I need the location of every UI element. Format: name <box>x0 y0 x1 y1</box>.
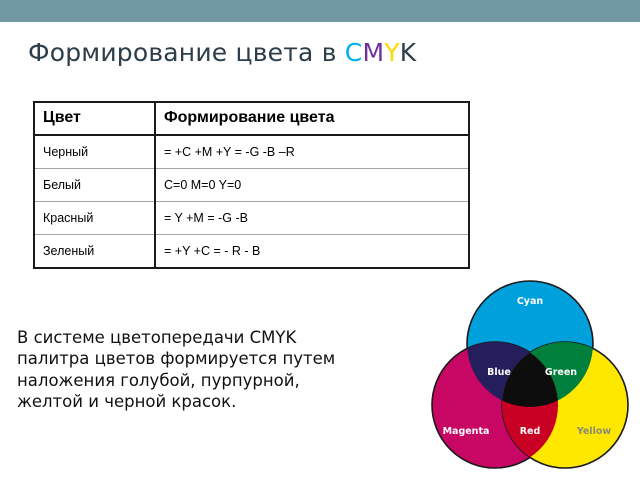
table-header-color: Цвет <box>34 102 155 135</box>
table-cell-formula: C=0 M=0 Y=0 <box>155 169 469 202</box>
table-cell-formula: = +Y +C = - R - B <box>155 235 469 269</box>
page-title: Формирование цвета в CMYK <box>28 38 416 67</box>
venn-label-green: Green <box>545 367 577 378</box>
page-title-letter-c: C <box>345 38 363 67</box>
table-cell-formula: = +C +M +Y = -G -B –R <box>155 135 469 169</box>
table-row: Красный = Y +M = -G -B <box>34 202 469 235</box>
table-header: Цвет Формирование цвета <box>34 102 469 135</box>
venn-label-cyan: Cyan <box>517 296 544 307</box>
table-cell-formula: = Y +M = -G -B <box>155 202 469 235</box>
body-paragraph: В системе цветопередачи CMYK палитра цве… <box>17 327 347 413</box>
table-cell-color-name: Зеленый <box>34 235 155 269</box>
table-cell-color-name: Белый <box>34 169 155 202</box>
table-cell-color-name: Черный <box>34 135 155 169</box>
table-row: Белый C=0 M=0 Y=0 <box>34 169 469 202</box>
page-title-letter-m: M <box>362 38 384 67</box>
table-cell-color-name: Красный <box>34 202 155 235</box>
venn-svg: Cyan Blue Green Magenta Red Yellow <box>427 276 633 473</box>
table-header-formula: Формирование цвета <box>155 102 469 135</box>
color-formation-table: Цвет Формирование цвета Черный = +C +M +… <box>33 101 470 269</box>
page-title-letter-k: K <box>400 38 417 67</box>
page-title-prefix: Формирование цвета в <box>28 38 345 67</box>
venn-label-red: Red <box>520 426 541 437</box>
venn-label-magenta: Magenta <box>443 426 490 437</box>
table-row: Черный = +C +M +Y = -G -B –R <box>34 135 469 169</box>
venn-label-yellow: Yellow <box>576 426 611 437</box>
table-body: Черный = +C +M +Y = -G -B –R Белый C=0 M… <box>34 135 469 268</box>
cmy-venn-diagram: Cyan Blue Green Magenta Red Yellow <box>427 276 633 473</box>
table-header-row: Цвет Формирование цвета <box>34 102 469 135</box>
venn-label-blue: Blue <box>487 367 511 378</box>
table-row: Зеленый = +Y +C = - R - B <box>34 235 469 269</box>
page-title-letter-y: Y <box>384 38 399 67</box>
top-accent-bar <box>0 0 640 22</box>
